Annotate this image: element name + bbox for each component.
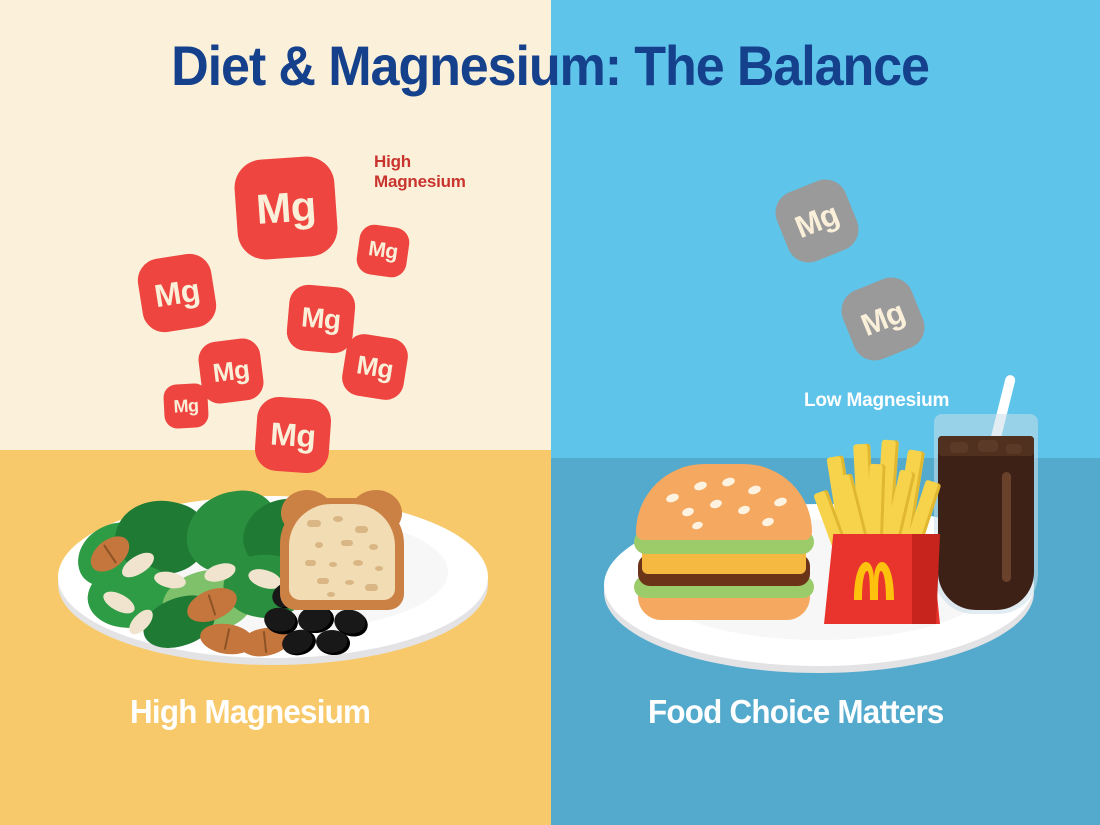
infographic-poster: Diet & Magnesium: The Balance MgMgMgMgMg… [0, 0, 1100, 825]
magnesium-tile: Mg [233, 155, 340, 262]
high-magnesium-label-line2: Magnesium [374, 172, 534, 192]
low-magnesium-side-label: Low Magnesium [804, 390, 949, 412]
ice-cube [1006, 444, 1022, 454]
ice-cube [978, 440, 998, 452]
fast-food-meal-illustration [604, 486, 1044, 666]
whole-grain-bread-slice [280, 484, 404, 612]
french-fries [816, 440, 948, 624]
magnesium-tile: Mg [163, 383, 209, 429]
ice-cube [950, 442, 968, 453]
fries-carton-fold [912, 534, 940, 624]
high-magnesium-label-line1: High [374, 152, 534, 172]
page-title: Diet & Magnesium: The Balance [39, 36, 1062, 96]
magnesium-tile: Mg [135, 251, 220, 336]
cola-drink [934, 414, 1038, 626]
magnesium-tile: Mg [340, 332, 411, 403]
caption-right: Food Choice Matters [648, 692, 944, 732]
magnesium-tile: Mg [355, 223, 411, 279]
magnesium-tile: Mg [285, 283, 357, 355]
magnesium-tile: Mg [254, 396, 333, 475]
cheeseburger [636, 464, 812, 614]
bread-crumb [289, 504, 395, 600]
healthy-meal-illustration [58, 478, 488, 663]
golden-arches-icon [850, 560, 898, 600]
burger-top-bun [636, 464, 812, 540]
caption-left: High Magnesium [130, 692, 370, 732]
cola-liquid [938, 436, 1034, 610]
cola-highlight [1002, 472, 1011, 582]
high-magnesium-side-label: High Magnesium [374, 152, 534, 192]
